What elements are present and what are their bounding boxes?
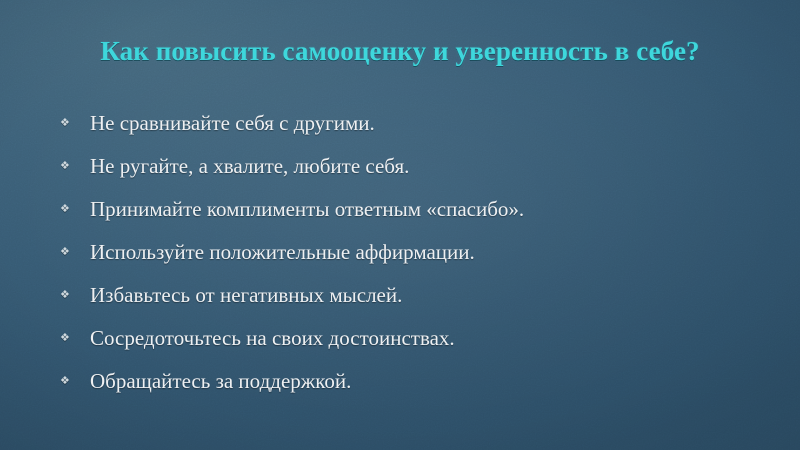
diamond-bullet-icon: ❖ [60,239,90,259]
list-item: ❖ Сосредоточьтесь на своих достоинствах. [60,325,760,368]
diamond-bullet-icon: ❖ [60,325,90,345]
diamond-bullet-icon: ❖ [60,110,90,130]
slide-title: Как повысить самооценку и уверенность в … [0,35,800,68]
presentation-slide: Как повысить самооценку и уверенность в … [0,0,800,450]
list-item: ❖ Избавьтесь от негативных мыслей. [60,282,760,325]
list-item-label: Обращайтесь за поддержкой. [90,368,760,395]
list-item: ❖ Не ругайте, а хвалите, любите себя. [60,153,760,196]
list-item-label: Избавьтесь от негативных мыслей. [90,282,760,309]
list-item-label: Сосредоточьтесь на своих достоинствах. [90,325,760,352]
list-item-label: Не ругайте, а хвалите, любите себя. [90,153,760,180]
list-item: ❖ Используйте положительные аффирмации. [60,239,760,282]
bullet-list: ❖ Не сравнивайте себя с другими. ❖ Не ру… [60,110,760,411]
list-item: ❖ Не сравнивайте себя с другими. [60,110,760,153]
list-item-label: Принимайте комплименты ответным «спасибо… [90,196,760,223]
list-item: ❖ Обращайтесь за поддержкой. [60,368,760,411]
list-item-label: Не сравнивайте себя с другими. [90,110,760,137]
list-item-label: Используйте положительные аффирмации. [90,239,760,266]
list-item: ❖ Принимайте комплименты ответным «спаси… [60,196,760,239]
diamond-bullet-icon: ❖ [60,153,90,173]
diamond-bullet-icon: ❖ [60,368,90,388]
diamond-bullet-icon: ❖ [60,282,90,302]
diamond-bullet-icon: ❖ [60,196,90,216]
